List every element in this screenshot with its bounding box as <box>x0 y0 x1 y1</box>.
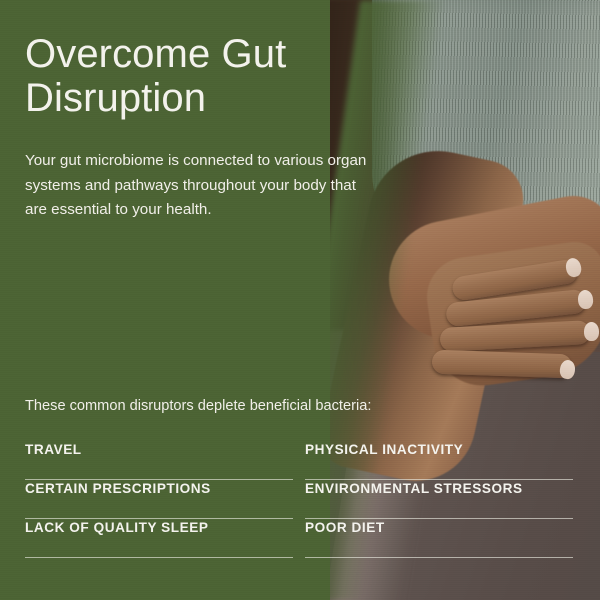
disruptors-grid: TRAVEL PHYSICAL INACTIVITY CERTAIN PRESC… <box>25 441 573 558</box>
disruptor-item-certain-prescriptions: CERTAIN PRESCRIPTIONS <box>25 480 293 519</box>
disruptor-label: LACK OF QUALITY SLEEP <box>25 519 209 536</box>
disruptor-divider <box>305 557 573 558</box>
page-title: Overcome Gut Disruption <box>25 32 365 120</box>
disruptor-divider <box>25 557 293 558</box>
disruptor-item-lack-of-quality-sleep: LACK OF QUALITY SLEEP <box>25 519 293 558</box>
column-gap <box>293 441 305 480</box>
disruptor-label: POOR DIET <box>305 519 385 536</box>
disruptor-label: PHYSICAL INACTIVITY <box>305 441 463 458</box>
disruptor-label: TRAVEL <box>25 441 82 458</box>
disruptor-item-poor-diet: POOR DIET <box>305 519 573 558</box>
subcopy-paragraph: Your gut microbiome is connected to vari… <box>25 149 373 223</box>
column-gap <box>293 519 305 558</box>
column-gap <box>293 480 305 519</box>
disruptor-item-environmental-stressors: ENVIRONMENTAL STRESSORS <box>305 480 573 519</box>
disruptors-intro-text: These common disruptors deplete benefici… <box>25 396 371 416</box>
poster-canvas: Overcome Gut Disruption Your gut microbi… <box>0 0 600 600</box>
disruptor-label: ENVIRONMENTAL STRESSORS <box>305 480 523 497</box>
disruptor-item-physical-inactivity: PHYSICAL INACTIVITY <box>305 441 573 480</box>
poster-content: Overcome Gut Disruption Your gut microbi… <box>0 0 600 600</box>
disruptor-item-travel: TRAVEL <box>25 441 293 480</box>
disruptor-label: CERTAIN PRESCRIPTIONS <box>25 480 211 497</box>
